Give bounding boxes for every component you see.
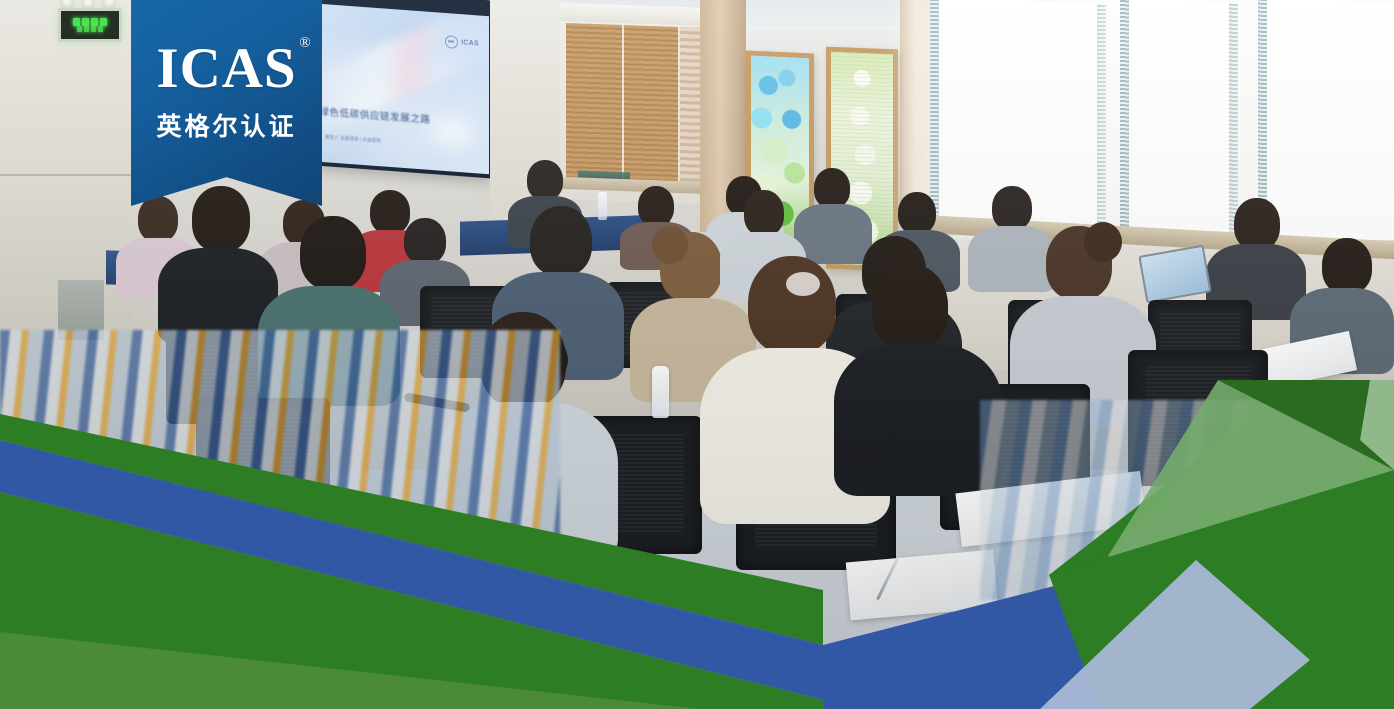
banner-root: ICAS 架 核算与绿色低碳供应链发展之路 报告人 主题演讲 / 大会现场 [0, 0, 1394, 709]
window-pane-2 [1120, 0, 1238, 242]
slide-logo-text: ICAS [461, 39, 479, 47]
water-bottle [652, 366, 669, 418]
brand-wordmark: ICAS ® [156, 40, 296, 97]
slide-logo: ICAS [445, 35, 479, 50]
brand-logo-badge[interactable]: ICAS ® 英格尔认证 [131, 0, 322, 206]
slide-footnote: 报告人 主题演讲 / 大会现场 [325, 134, 381, 144]
brand-wordmark-text: ICAS [156, 37, 296, 100]
document-sheet [846, 550, 998, 621]
projection-screen: ICAS 架 核算与绿色低碳供应链发展之路 报告人 主题演讲 / 大会现场 [319, 4, 489, 174]
brand-chinese-name: 英格尔认证 [156, 107, 296, 143]
carpet-right [980, 400, 1394, 600]
wood-column-right [900, 0, 934, 222]
slide-logo-icon [445, 35, 458, 49]
emergency-exit-sign [58, 8, 122, 42]
registered-trademark-icon: ® [299, 36, 311, 51]
carpet-left [0, 330, 560, 550]
blinds-cord-2 [678, 27, 680, 183]
blinds-cord-1 [622, 25, 624, 181]
projection-screen-frame: ICAS 架 核算与绿色低碳供应链发展之路 报告人 主题演讲 / 大会现场 [316, 0, 492, 178]
water-bottle-far [598, 192, 607, 220]
